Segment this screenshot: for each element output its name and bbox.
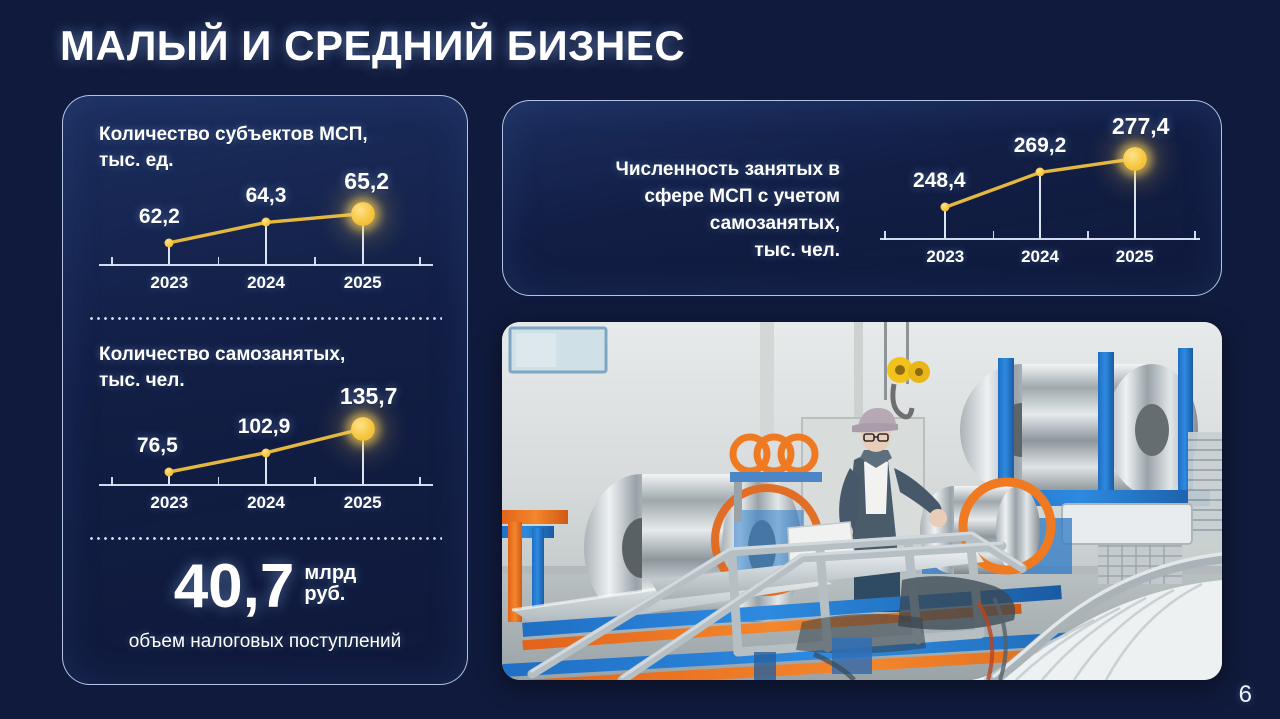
data-point-highlight — [351, 202, 375, 226]
x-axis-label: 2023 — [150, 273, 188, 293]
data-label: 76,5 — [137, 434, 178, 458]
factory-photo-illustration — [502, 322, 1222, 680]
slide-root: МАЛЫЙ И СРЕДНИЙ БИЗНЕС Количество субъек… — [0, 0, 1280, 719]
chart-subjects-msp: Количество субъектов МСП, тыс. ед. 62,22… — [99, 122, 433, 302]
data-label: 65,2 — [344, 168, 389, 195]
data-point — [165, 467, 174, 476]
data-point-highlight — [351, 417, 375, 441]
card-divider-2 — [88, 537, 442, 540]
data-label: 62,2 — [139, 205, 180, 229]
data-label: 102,9 — [238, 415, 291, 439]
data-point — [165, 238, 174, 247]
page-title: МАЛЫЙ И СРЕДНИЙ БИЗНЕС — [60, 22, 685, 70]
data-label: 64,3 — [246, 184, 287, 208]
x-axis-label: 2023 — [150, 493, 188, 513]
chart-subjects-title: Количество субъектов МСП, тыс. ед. — [99, 122, 433, 174]
chart-employment-plot: 248,42023269,22024277,42025 — [880, 118, 1200, 278]
card-divider-1 — [88, 317, 442, 320]
chart-self-employed-plot: 76,52023102,92024135,72025 — [99, 404, 433, 522]
data-label: 269,2 — [1014, 134, 1067, 158]
chart-employment: 248,42023269,22024277,42025 — [880, 118, 1200, 278]
data-point-highlight — [1123, 147, 1147, 171]
x-axis-label: 2023 — [926, 247, 964, 267]
data-point — [262, 218, 271, 227]
chart-employment-title-line-3: самозанятых, — [560, 211, 840, 238]
x-axis-label: 2025 — [344, 493, 382, 513]
chart-subjects-plot: 62,2202364,3202465,22025 — [99, 184, 433, 302]
data-point — [262, 448, 271, 457]
left-metrics-card: Количество субъектов МСП, тыс. ед. 62,22… — [62, 95, 468, 685]
chart-employment-title: Численность занятых всфере МСП с учетомс… — [560, 157, 840, 265]
x-axis-label: 2024 — [247, 273, 285, 293]
tax-revenue-unit: млрд руб. — [304, 563, 356, 612]
x-axis-label: 2025 — [344, 273, 382, 293]
chart-employment-title-line-4: тыс. чел. — [560, 238, 840, 265]
data-label: 135,7 — [340, 383, 398, 410]
data-point — [1036, 168, 1045, 177]
tax-revenue-caption: объем налоговых поступлений — [63, 631, 467, 653]
x-axis-label: 2024 — [1021, 247, 1059, 267]
x-axis-label: 2024 — [247, 493, 285, 513]
tax-revenue-number: 40,7 — [174, 558, 295, 617]
x-axis-label: 2025 — [1116, 247, 1154, 267]
data-label: 248,4 — [913, 169, 966, 193]
chart-self-employed: Количество самозанятых, тыс. чел. 76,520… — [99, 342, 433, 522]
factory-photo — [502, 322, 1222, 680]
page-number: 6 — [1239, 681, 1252, 709]
data-point — [941, 203, 950, 212]
tax-revenue-value-row: 40,7 млрд руб. — [63, 558, 467, 617]
tax-revenue-stat: 40,7 млрд руб. объем налоговых поступлен… — [63, 558, 467, 653]
chart-employment-title-line-2: сфере МСП с учетом — [560, 184, 840, 211]
chart-employment-title-line-1: Численность занятых в — [560, 157, 840, 184]
data-label: 277,4 — [1112, 113, 1170, 140]
